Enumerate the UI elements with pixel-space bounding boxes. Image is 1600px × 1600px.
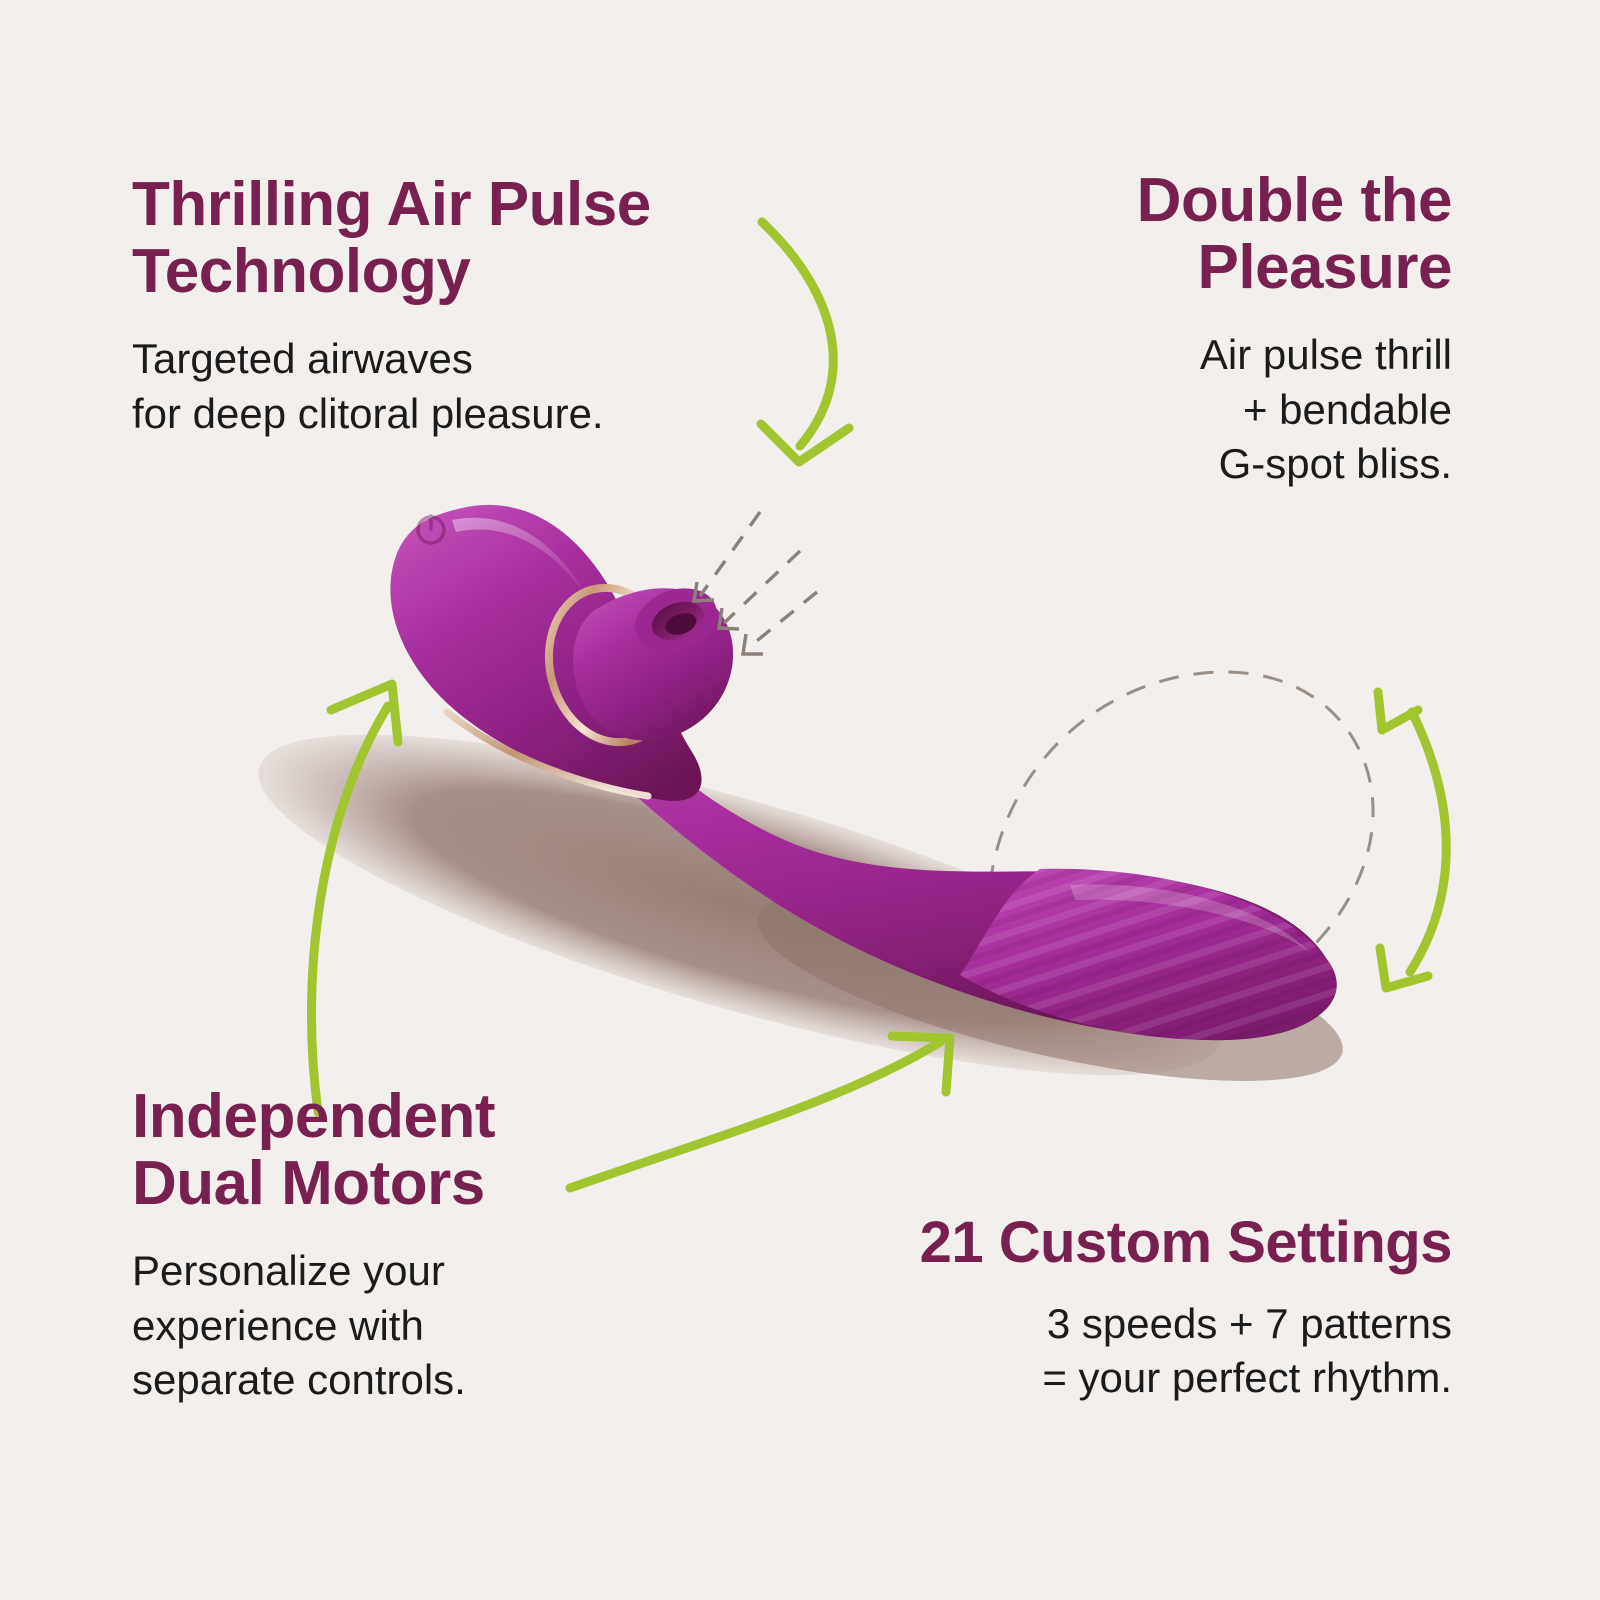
- callout-air-pulse: Thrilling Air Pulse Technology Targeted …: [132, 172, 772, 441]
- callout-double-pleasure: Double the Pleasure Air pulse thrill + b…: [982, 168, 1452, 492]
- callout-dual-motors: Independent Dual Motors Personalize your…: [132, 1084, 692, 1408]
- callout-double-pleasure-body: Air pulse thrill + bendable G-spot bliss…: [982, 328, 1452, 492]
- infographic-canvas: Thrilling Air Pulse Technology Targeted …: [0, 0, 1600, 1600]
- callout-air-pulse-heading: Thrilling Air Pulse Technology: [132, 172, 772, 306]
- callout-air-pulse-body: Targeted airwaves for deep clitoral plea…: [132, 332, 772, 441]
- arrow-bendable-flex: [1378, 692, 1446, 988]
- callout-custom-settings-body: 3 speeds + 7 patterns = your perfect rhy…: [752, 1297, 1452, 1406]
- callout-dual-motors-body: Personalize your experience with separat…: [132, 1244, 692, 1408]
- callout-dual-motors-heading: Independent Dual Motors: [132, 1084, 692, 1218]
- callout-double-pleasure-heading: Double the Pleasure: [982, 168, 1452, 302]
- callout-custom-settings: 21 Custom Settings 3 speeds + 7 patterns…: [752, 1212, 1452, 1406]
- arrow-air-pulse: [761, 222, 849, 462]
- callout-custom-settings-heading: 21 Custom Settings: [752, 1212, 1452, 1275]
